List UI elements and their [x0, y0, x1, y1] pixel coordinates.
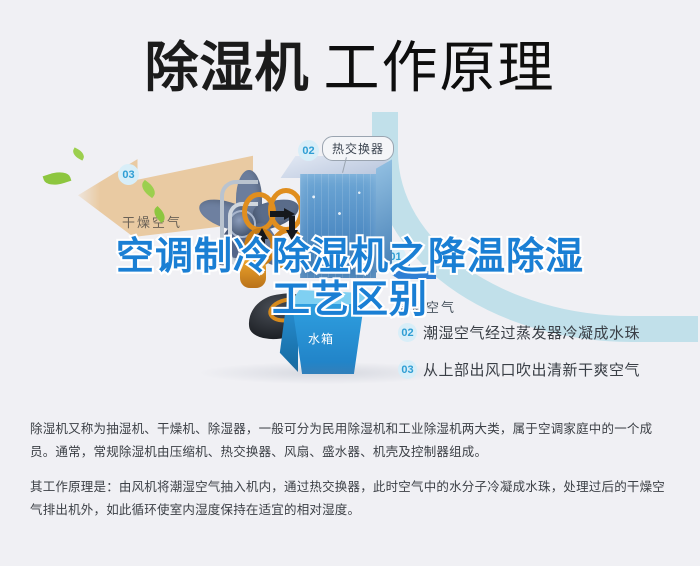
- step-list: 02 潮湿空气经过蒸发器冷凝成水珠 03 从上部出风口吹出清新干爽空气: [398, 322, 698, 396]
- humid-air-fade: [560, 112, 700, 206]
- badge-02: 02: [298, 140, 319, 161]
- flow-arrow-right-icon: [284, 208, 295, 220]
- list-item: 02 潮湿空气经过蒸发器冷凝成水珠: [398, 322, 698, 343]
- water-tank-label: 水箱: [308, 330, 334, 347]
- paragraph-spacer: [30, 464, 674, 476]
- dry-air-fade: [60, 152, 100, 244]
- title-sub-text: 工作原理: [324, 40, 556, 96]
- step-label: 从上部出风口吹出清新干爽空气: [423, 359, 640, 380]
- dry-air-label: 干燥空气: [122, 212, 182, 231]
- step-badge: 02: [398, 323, 417, 342]
- page-root: 除湿机 工作原理 01 潮湿空气 03 干燥空气: [0, 0, 700, 566]
- list-item: 03 从上部出风口吹出清新干爽空气: [398, 359, 698, 380]
- heat-exchanger-callout: 热交换器: [322, 136, 394, 161]
- badge-03: 03: [118, 164, 139, 185]
- step-badge: 03: [398, 360, 417, 379]
- article-body: 除湿机又称为抽湿机、干燥机、除湿器，一般可分为民用除湿机和工业除湿机两大类，属于…: [30, 418, 674, 523]
- watermark-text: 空调制冷除湿机之降温除湿工艺区别: [110, 236, 590, 321]
- title-main-text: 除湿机: [145, 41, 310, 95]
- step-label: 潮湿空气经过蒸发器冷凝成水珠: [423, 322, 640, 343]
- body-paragraph-2: 其工作原理是：由风机将潮湿空气抽入机内，通过热交换器，此时空气中的水分子冷凝成水…: [30, 476, 674, 522]
- body-paragraph-1: 除湿机又称为抽湿机、干燥机、除湿器，一般可分为民用除湿机和工业除湿机两大类，属于…: [30, 418, 674, 464]
- watermark-overlay: 空调制冷除湿机之降温除湿工艺区别: [0, 236, 700, 321]
- page-title: 除湿机 工作原理: [0, 28, 700, 108]
